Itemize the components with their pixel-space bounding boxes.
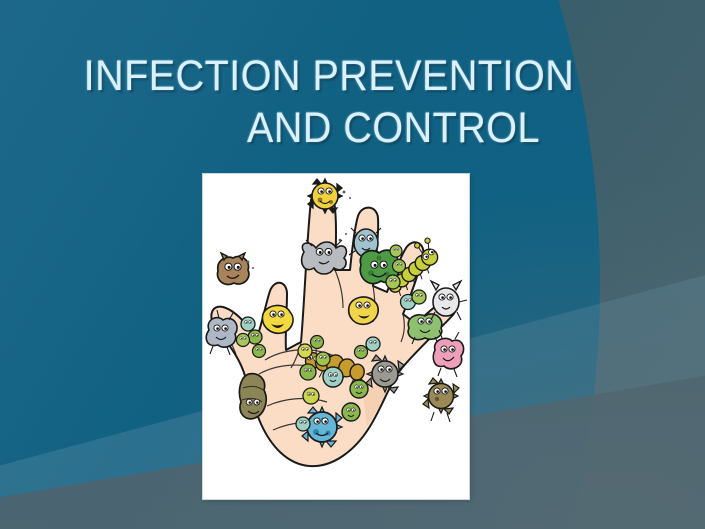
title-line-2: AND CONTROL bbox=[84, 102, 540, 154]
title-line-1: INFECTION PREVENTION bbox=[84, 50, 540, 102]
germ-grey-spiky-palm-right bbox=[366, 355, 404, 393]
germ-olive-worm-palm-left bbox=[239, 374, 266, 419]
germ-yellow-knuckle bbox=[262, 305, 293, 333]
germ-hand-illustration bbox=[203, 174, 469, 499]
germ-yellow-ring-valley bbox=[349, 297, 379, 324]
germ-yellow-spiky-middle-fingertip bbox=[308, 179, 342, 213]
slide-picture-frame bbox=[203, 174, 469, 499]
slide-title: INFECTION PREVENTION AND CONTROL bbox=[44, 50, 540, 154]
presentation-slide: INFECTION PREVENTION AND CONTROL bbox=[0, 0, 705, 529]
germ-hand-svg bbox=[203, 174, 469, 499]
